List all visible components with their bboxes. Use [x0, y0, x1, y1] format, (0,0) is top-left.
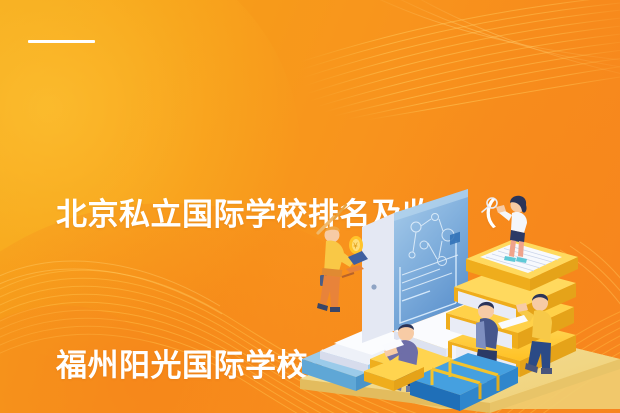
- article-cover-banner: 北京私立国际学校排名及收费（ 福州阳光国际学校小学: [0, 0, 620, 413]
- gold-coin: ¥: [349, 236, 363, 254]
- climbing-worker-with-tools: [317, 205, 368, 312]
- education-illustration: ¥: [290, 183, 620, 413]
- title-underline-rule: [28, 40, 95, 43]
- svg-text:¥: ¥: [352, 242, 358, 251]
